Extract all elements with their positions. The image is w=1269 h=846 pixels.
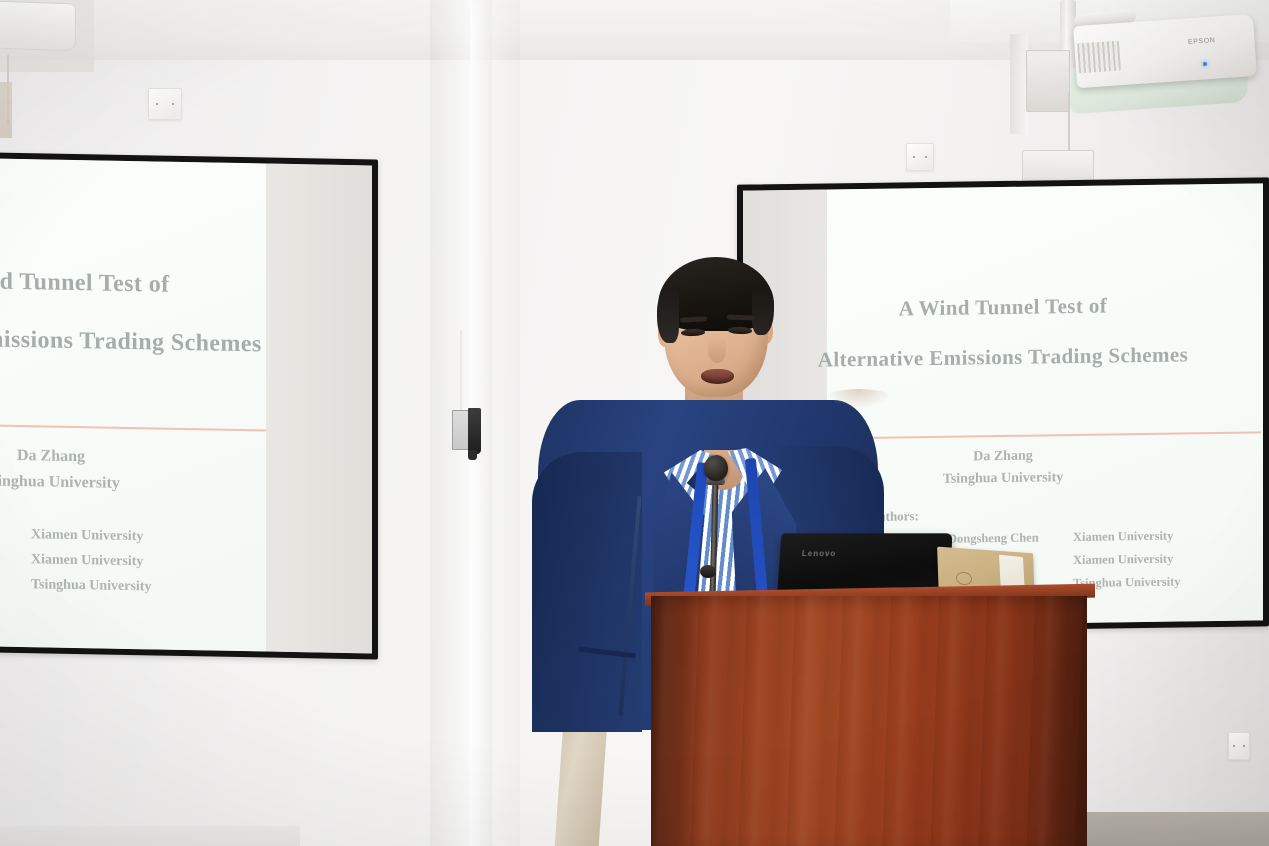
wall-speaker xyxy=(0,1,76,52)
chin-shadow xyxy=(824,389,894,409)
laptop-brand-label: Lenovo xyxy=(802,549,837,558)
blazer-left-shoulder xyxy=(532,452,642,732)
wall-plate-a-icon xyxy=(148,88,182,120)
hair-sideburn-right xyxy=(752,285,774,335)
hair-sideburn-left xyxy=(657,291,679,343)
projector-vent-grille xyxy=(1077,41,1121,74)
projector-status-led-icon xyxy=(1203,62,1207,66)
left-projection-area xyxy=(0,159,266,652)
projector-power-cable xyxy=(1068,92,1070,150)
speaker-terminal-block xyxy=(0,82,12,138)
conference-photo-scene: EPSON A Wind Tunnel Test of Alternative … xyxy=(0,0,1269,846)
mouth xyxy=(701,369,734,384)
wall-plate-c-icon xyxy=(1228,732,1250,760)
floor-line xyxy=(0,826,300,846)
microphone-base-clamp xyxy=(700,565,716,578)
wall-control-panel-base xyxy=(468,450,477,460)
microphone-head-icon[interactable] xyxy=(704,455,728,481)
projector-mount-bracket xyxy=(1026,50,1070,112)
podium-left-shadow xyxy=(651,596,699,846)
left-whiteboard: A Wind Tunnel Test of Alternative Emissi… xyxy=(0,152,378,659)
podium-right-shadow xyxy=(1020,596,1087,846)
nose xyxy=(708,337,726,363)
eyebrow-right xyxy=(727,315,755,321)
wall-plate-b-icon xyxy=(906,143,934,171)
baseboard xyxy=(1060,812,1269,846)
control-panel-conduit xyxy=(460,330,463,412)
wall-control-panel-screen[interactable] xyxy=(468,408,481,454)
left-board-unlit-area xyxy=(266,164,378,654)
